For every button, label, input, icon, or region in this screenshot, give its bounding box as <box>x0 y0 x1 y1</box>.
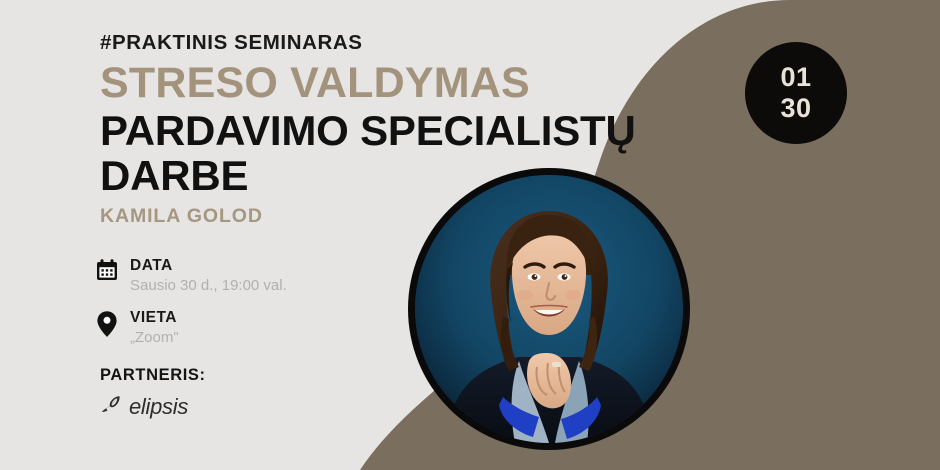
detail-row-date: DATA Sausio 30 d., 19:00 val. <box>92 256 287 296</box>
detail-label: VIETA <box>130 308 179 327</box>
detail-text-date: DATA Sausio 30 d., 19:00 val. <box>122 256 287 296</box>
location-pin-icon <box>92 308 122 344</box>
date-badge-day: 30 <box>780 94 811 123</box>
event-banner: #PRAKTINIS SEMINARAS STRESO VALDYMAS PAR… <box>0 0 940 470</box>
detail-value: Sausio 30 d., 19:00 val. <box>130 276 287 296</box>
elipsis-swoosh-icon <box>100 393 126 420</box>
title-primary: STRESO VALDYMAS <box>100 61 700 106</box>
detail-text-location: VIETA „Zoom" <box>122 308 179 348</box>
speaker-portrait <box>415 175 683 443</box>
hashtag-label: #PRAKTINIS SEMINARAS <box>100 32 700 55</box>
speaker-photo <box>408 168 690 450</box>
partner-logo: elipsis <box>100 393 206 420</box>
date-badge: 01 30 <box>745 42 847 144</box>
detail-value: „Zoom" <box>130 328 179 348</box>
calendar-icon <box>92 256 122 292</box>
partner-block: PARTNERIS: elipsis <box>100 366 206 420</box>
partner-label: PARTNERIS: <box>100 366 206 385</box>
detail-label: DATA <box>130 256 287 275</box>
speaker-photo-inner <box>415 175 683 443</box>
partner-name: elipsis <box>129 396 188 418</box>
date-badge-month: 01 <box>780 63 811 92</box>
event-details: DATA Sausio 30 d., 19:00 val. VIETA „Zoo… <box>92 256 287 360</box>
detail-row-location: VIETA „Zoom" <box>92 308 287 348</box>
